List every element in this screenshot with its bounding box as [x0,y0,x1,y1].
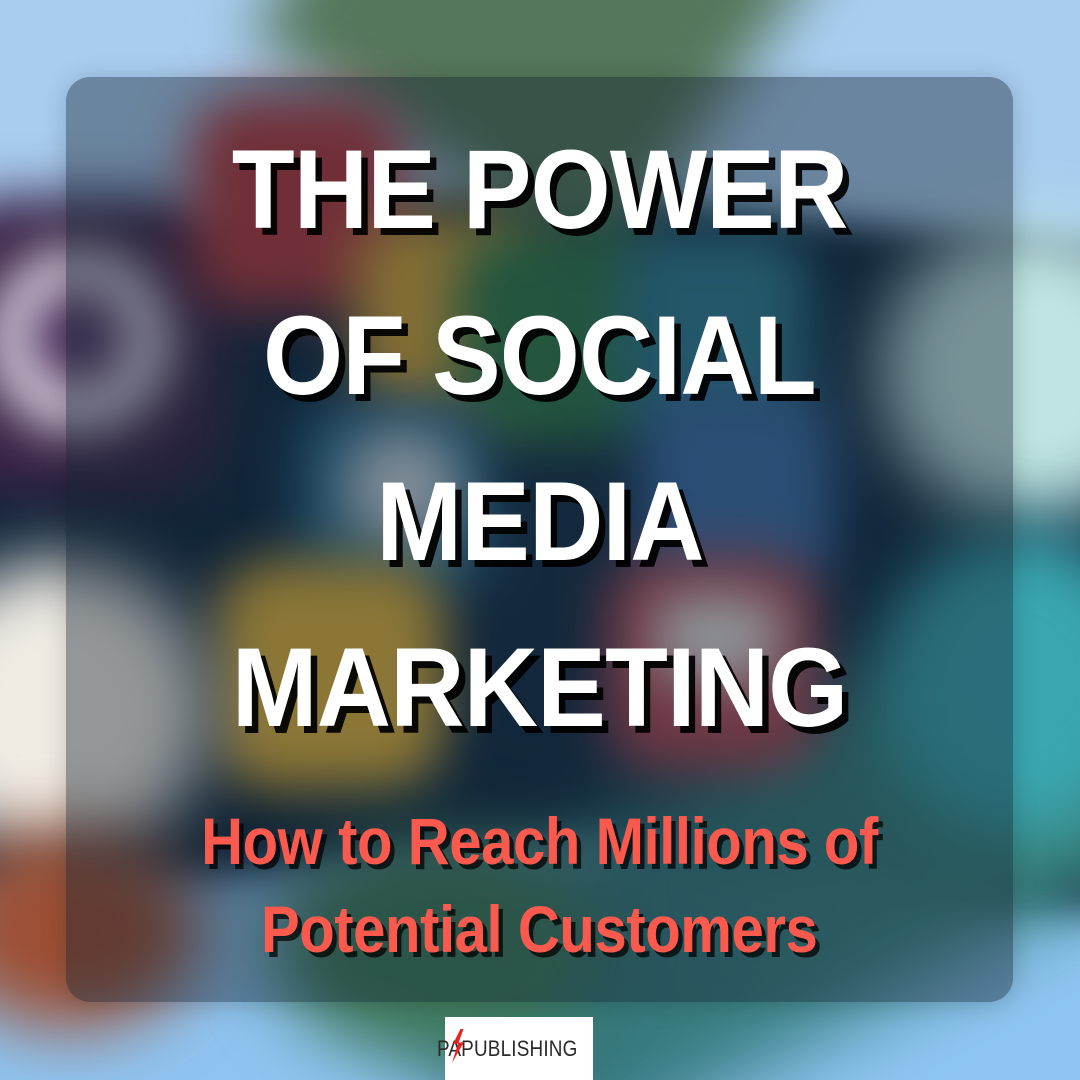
subtitle-line-2: Potential Customers [261,893,817,967]
subtitle-line-1: How to Reach Millions of [201,805,878,879]
logo-wordmark: PAPUBLISHING [437,1032,600,1066]
poster-content: THE POWER OF SOCIAL MEDIA MARKETING How … [66,77,1013,1002]
title-line-4: MARKETING [232,627,848,749]
lightning-bolt-icon [450,1029,466,1063]
title-line-1: THE POWER [232,129,848,251]
publisher-logo-card: PAPUBLISHING [445,1017,593,1080]
title-line-3: MEDIA [376,461,703,583]
title-line-2: OF SOCIAL [263,295,816,417]
